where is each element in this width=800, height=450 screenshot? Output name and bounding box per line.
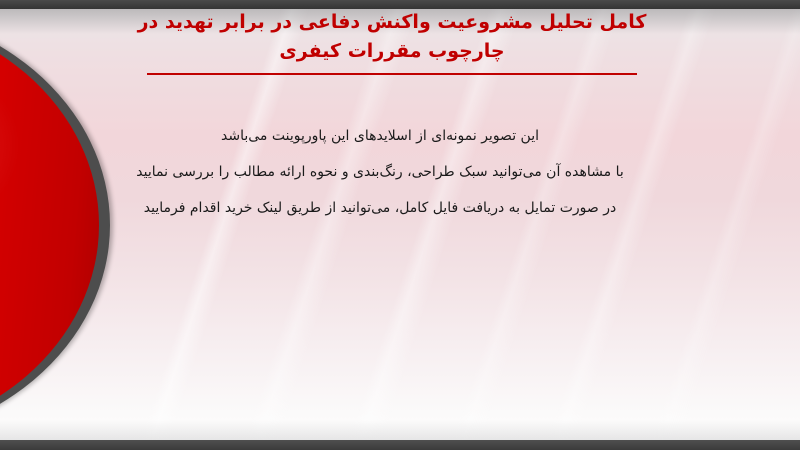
presentation-slide: کامل تحلیل مشروعیت واکنش دفاعی در برابر … xyxy=(0,0,800,450)
slide-body-block: این تصویر نمونه‌ای از اسلایدهای این پاور… xyxy=(80,118,680,226)
slide-title-line-2: چارچوب مقررات کیفری xyxy=(102,37,682,66)
slide-bottom-bar xyxy=(0,440,800,450)
title-underline-rule xyxy=(147,73,637,75)
body-text-line-2: با مشاهده آن می‌توانید سبک طراحی، رنگ‌بن… xyxy=(80,154,680,190)
body-text-line-1: این تصویر نمونه‌ای از اسلایدهای این پاور… xyxy=(80,118,680,154)
slide-title-line-1: کامل تحلیل مشروعیت واکنش دفاعی در برابر … xyxy=(102,8,682,37)
slide-title-block: کامل تحلیل مشروعیت واکنش دفاعی در برابر … xyxy=(102,8,682,75)
body-text-line-3: در صورت تمایل به دریافت فایل کامل، می‌تو… xyxy=(80,190,680,226)
